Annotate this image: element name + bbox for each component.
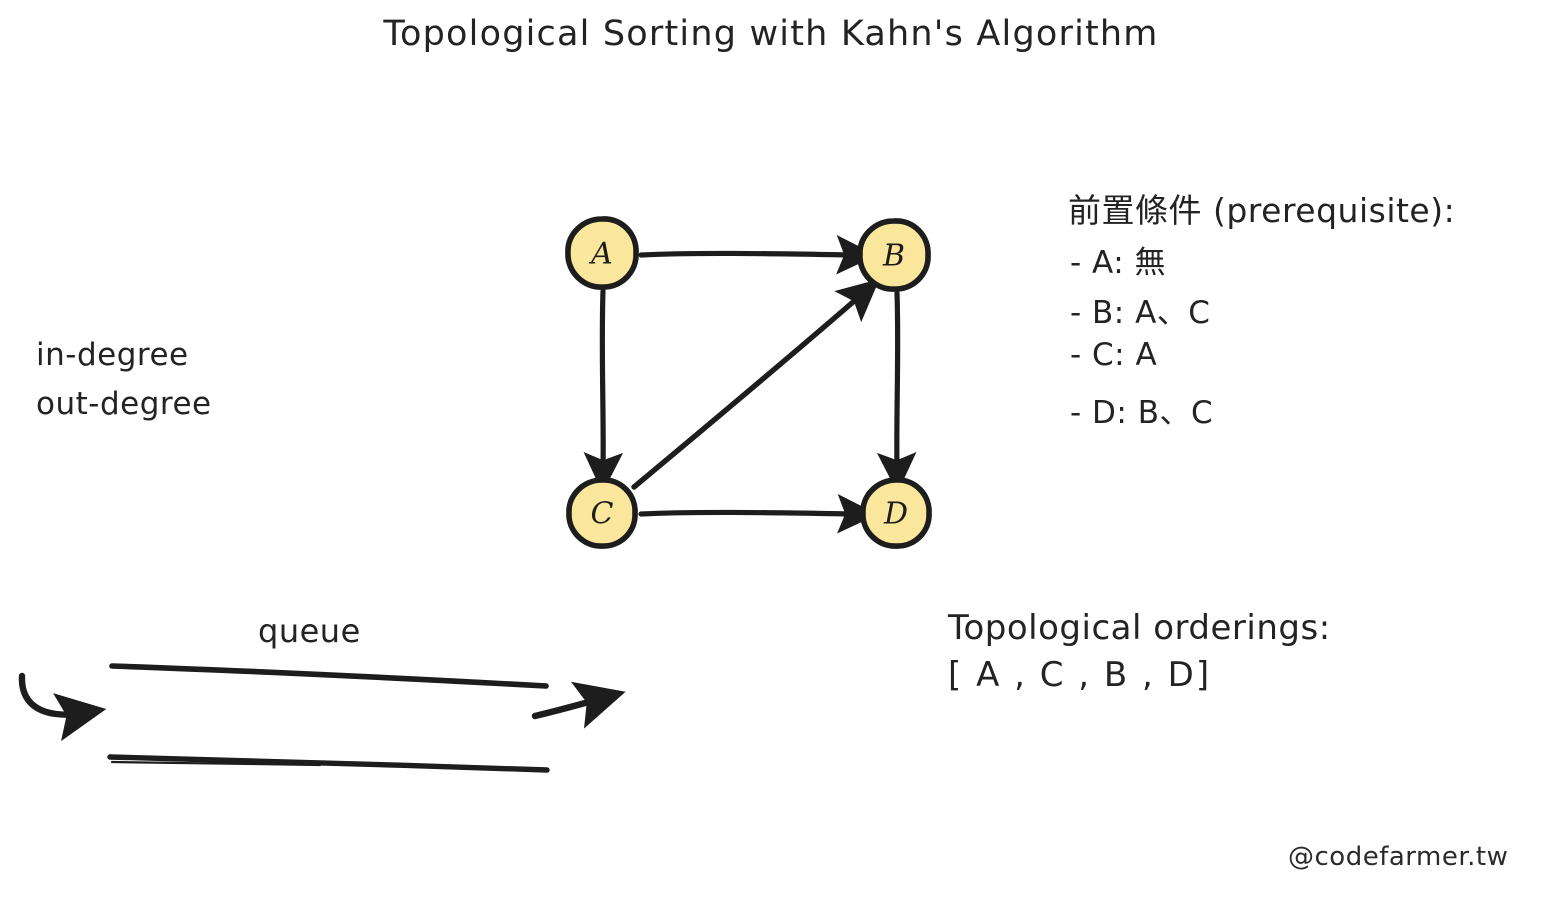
graph-node-b-label: B [882, 239, 905, 274]
graph-node-b[interactable]: B [860, 221, 928, 289]
graph-svg: A B C D [0, 0, 1542, 904]
graph-node-d-label: D [883, 497, 908, 532]
edge-c-to-d [641, 512, 853, 514]
graph-node-c-label: C [591, 497, 614, 532]
graph-node-c[interactable]: C [569, 480, 635, 546]
graph-node-d[interactable]: D [863, 480, 929, 546]
graph-node-a-label: A [588, 237, 613, 272]
edge-b-to-d [897, 293, 898, 468]
graph-edges [602, 253, 897, 514]
queue-top-rail [112, 666, 546, 686]
diagram-canvas: Topological Sorting with Kahn's Algorith… [0, 0, 1542, 904]
edge-a-to-b [641, 253, 852, 255]
edge-a-to-c [602, 291, 603, 468]
queue-illustration [22, 666, 596, 770]
edge-c-to-b [634, 296, 860, 487]
queue-enqueue-arrow-icon [22, 676, 76, 715]
graph-node-a[interactable]: A [568, 219, 636, 287]
graph-nodes: A B C D [568, 219, 929, 546]
queue-dequeue-arrow-icon [535, 700, 596, 716]
